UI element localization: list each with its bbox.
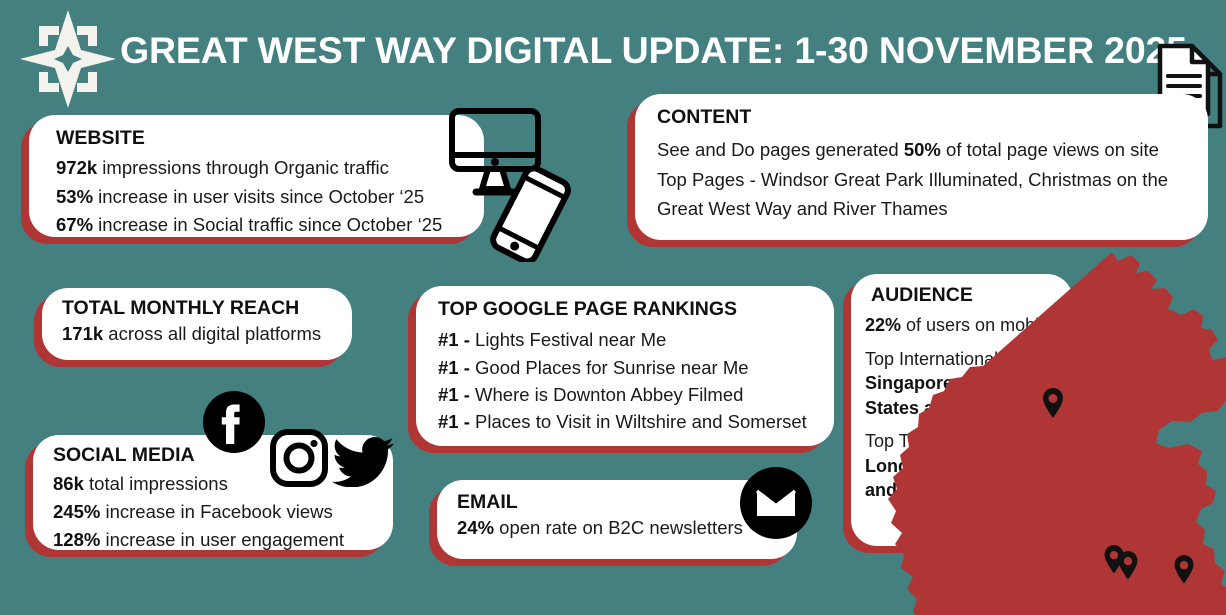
email-stat-value: 24% <box>457 517 494 538</box>
ranking-item: #1 - Lights Festival near Me <box>438 326 834 353</box>
facebook-icon <box>203 391 265 453</box>
page-title: GREAT WEST WAY DIGITAL UPDATE: 1-30 NOVE… <box>120 29 1187 72</box>
ranking-label: Where is Downton Abbey Filmed <box>475 384 743 405</box>
map-marker-pin <box>1119 551 1138 580</box>
content-card: CONTENT See and Do pages generated 50% o… <box>635 94 1208 240</box>
ranking-item: #1 - Where is Downton Abbey Filmed <box>438 381 834 408</box>
social-stat-line: 245% increase in Facebook views <box>53 498 393 526</box>
ranking-label: Good Places for Sunrise near Me <box>475 357 749 378</box>
audience-international-countries: Singapore, United States and Ireland <box>865 373 1020 417</box>
content-line-pageviews: See and Do pages generated 50% of total … <box>657 135 1190 164</box>
audience-card-title: AUDIENCE <box>865 285 1073 306</box>
ranking-separator: - <box>459 411 475 432</box>
header-bar: GREAT WEST WAY DIGITAL UPDATE: 1-30 NOVE… <box>0 0 1226 100</box>
ranking-separator: - <box>459 329 475 350</box>
twitter-icon <box>332 437 394 487</box>
audience-mobile-line: 22% of users on mobile <box>865 313 1073 337</box>
ranking-position: #1 <box>438 411 459 432</box>
ranking-position: #1 <box>438 384 459 405</box>
website-stat-line: 53% increase in user visits since Octobe… <box>56 183 484 211</box>
reach-stat-value: 171k <box>62 323 103 344</box>
ranking-item: #1 - Places to Visit in Wiltshire and So… <box>438 408 834 435</box>
total-monthly-reach-card: TOTAL MONTHLY REACH 171k across all digi… <box>42 288 352 360</box>
social-stat-text: increase in user engagement <box>100 529 344 550</box>
website-stat-value: 67% <box>56 214 93 235</box>
website-stat-value: 972k <box>56 157 97 178</box>
social-stat-value: 128% <box>53 529 100 550</box>
infographic-canvas: GREAT WEST WAY DIGITAL UPDATE: 1-30 NOVE… <box>0 0 1226 615</box>
audience-mobile-text: of users on mobile <box>901 315 1053 335</box>
content-line-post: of total page views on site <box>941 139 1159 160</box>
audience-mobile-value: 22% <box>865 315 901 335</box>
website-stat-text: increase in Social traffic since October… <box>93 214 442 235</box>
ranking-item: #1 - Good Places for Sunrise near Me <box>438 354 834 381</box>
content-line-toppages: Top Pages - Windsor Great Park Illuminat… <box>657 165 1190 223</box>
website-stat-text: increase in user visits since October ‘2… <box>93 186 424 207</box>
website-stat-line: 67% increase in Social traffic since Oct… <box>56 211 484 239</box>
reach-stat-text: across all digital platforms <box>103 323 321 344</box>
audience-towns-cities: London, Bath, Bristol and Dublin <box>865 456 1048 500</box>
website-card-title: WEBSITE <box>56 128 484 149</box>
envelope-icon <box>740 467 812 539</box>
ranking-separator: - <box>459 384 475 405</box>
website-stat-text: impressions through Organic traffic <box>97 157 389 178</box>
social-stat-line: 128% increase in user engagement <box>53 526 393 554</box>
website-stat-line: 972k impressions through Organic traffic <box>56 154 484 182</box>
audience-towns-pre: Top Towns/Cities include <box>865 431 1062 451</box>
audience-international-line: Top International include Singapore, Uni… <box>865 347 1073 420</box>
google-rankings-card: TOP GOOGLE PAGE RANKINGS #1 - Lights Fes… <box>416 286 834 446</box>
website-card: WEBSITE 972k impressions through Organic… <box>29 115 484 237</box>
ranking-label: Lights Festival near Me <box>475 329 666 350</box>
reach-stat-line: 171k across all digital platforms <box>62 323 352 345</box>
ranking-label: Places to Visit in Wiltshire and Somerse… <box>475 411 807 432</box>
social-stat-text: total impressions <box>84 473 228 494</box>
map-marker-pin <box>1175 555 1194 584</box>
social-stat-value: 86k <box>53 473 84 494</box>
website-stat-value: 53% <box>56 186 93 207</box>
audience-international-pre: Top International include <box>865 349 1060 369</box>
reach-card-title: TOTAL MONTHLY REACH <box>62 298 352 319</box>
social-stat-text: increase in Facebook views <box>100 501 332 522</box>
ranking-separator: - <box>459 357 475 378</box>
social-stat-value: 245% <box>53 501 100 522</box>
rankings-card-title: TOP GOOGLE PAGE RANKINGS <box>438 299 834 320</box>
audience-towns-line: Top Towns/Cities include London, Bath, B… <box>865 429 1073 502</box>
instagram-icon <box>270 429 328 487</box>
content-line-value: 50% <box>904 139 941 160</box>
content-card-title: CONTENT <box>657 107 1190 128</box>
ranking-position: #1 <box>438 357 459 378</box>
audience-card: AUDIENCE 22% of users on mobile Top Inte… <box>851 274 1073 546</box>
content-line-pre: See and Do pages generated <box>657 139 904 160</box>
ranking-position: #1 <box>438 329 459 350</box>
email-stat-text: open rate on B2C newsletters <box>494 517 743 538</box>
compass-star-logo-icon <box>17 6 119 112</box>
map-marker-pin <box>1105 545 1124 574</box>
smartphone-icon <box>484 167 579 262</box>
